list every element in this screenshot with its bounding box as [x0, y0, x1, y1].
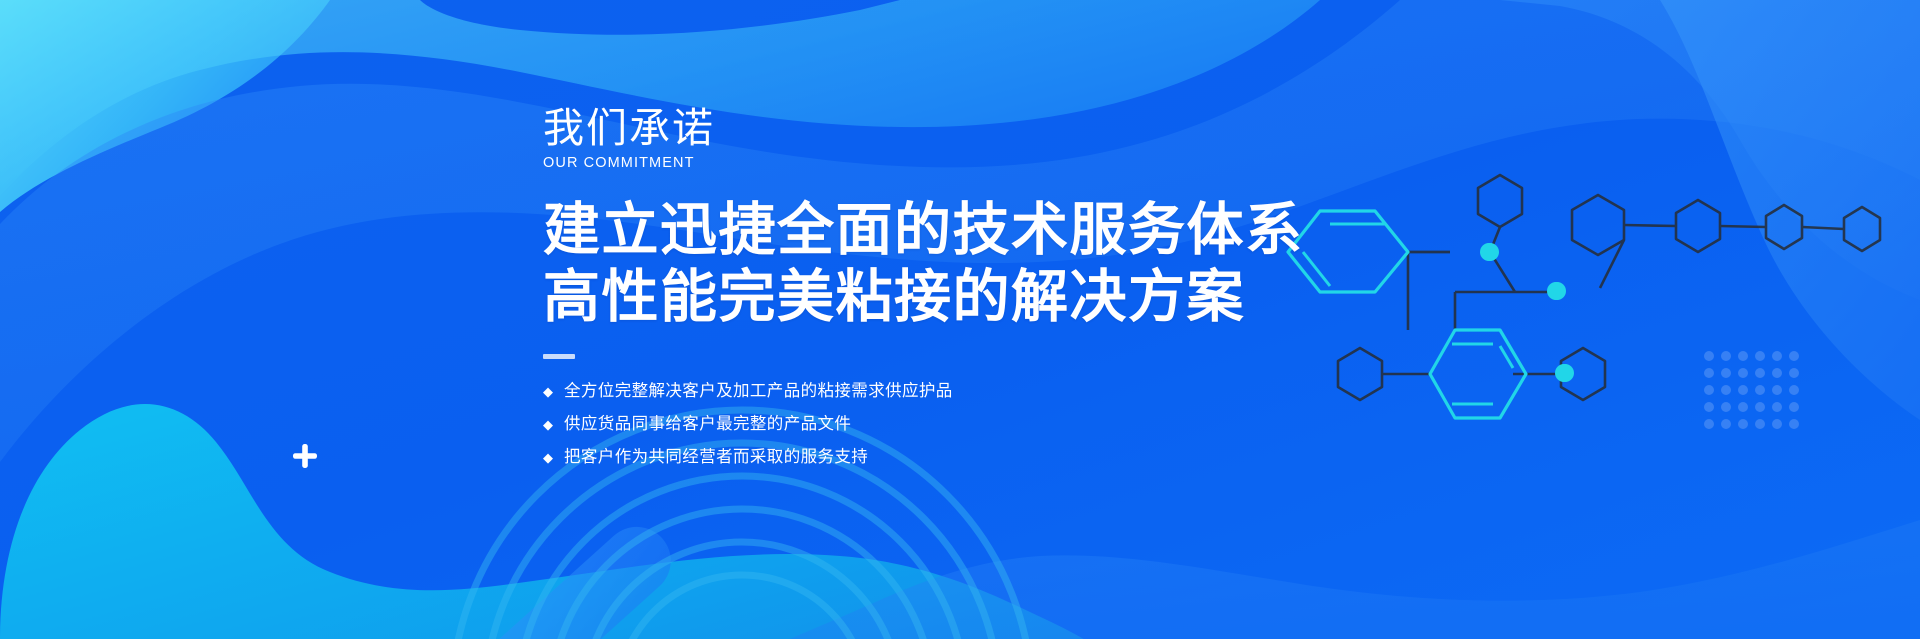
list-item: ◆ 把客户作为共同经营者而采取的服务支持	[543, 446, 1443, 470]
headline-block: 建立迅捷全面的技术服务体系 高性能完美粘接的解决方案	[543, 197, 1443, 330]
banner-content: 我们承诺 OUR COMMITMENT 建立迅捷全面的技术服务体系 高性能完美粘…	[543, 108, 1443, 479]
plus-icon	[292, 443, 318, 474]
commitment-bullet-list: ◆ 全方位完整解决客户及加工产品的粘接需求供应护品 ◆ 供应货品同事给客户最完整…	[543, 380, 1443, 470]
bullet-text: 把客户作为共同经营者而采取的服务支持	[564, 446, 868, 470]
headline-line-2: 高性能完美粘接的解决方案	[543, 264, 1443, 331]
divider-dash	[543, 354, 575, 359]
diamond-bullet-icon: ◆	[543, 451, 553, 464]
bullet-text: 全方位完整解决客户及加工产品的粘接需求供应护品	[564, 380, 953, 404]
list-item: ◆ 全方位完整解决客户及加工产品的粘接需求供应护品	[543, 380, 1443, 404]
headline-line-1: 建立迅捷全面的技术服务体系	[543, 197, 1443, 264]
diamond-bullet-icon: ◆	[543, 385, 553, 398]
list-item: ◆ 供应货品同事给客户最完整的产品文件	[543, 413, 1443, 437]
promo-banner: 我们承诺 OUR COMMITMENT 建立迅捷全面的技术服务体系 高性能完美粘…	[0, 0, 1920, 639]
eyebrow-title-en: OUR COMMITMENT	[543, 155, 1443, 171]
diamond-bullet-icon: ◆	[543, 418, 553, 431]
eyebrow-title-cn: 我们承诺	[543, 108, 1443, 149]
bullet-text: 供应货品同事给客户最完整的产品文件	[564, 413, 851, 437]
